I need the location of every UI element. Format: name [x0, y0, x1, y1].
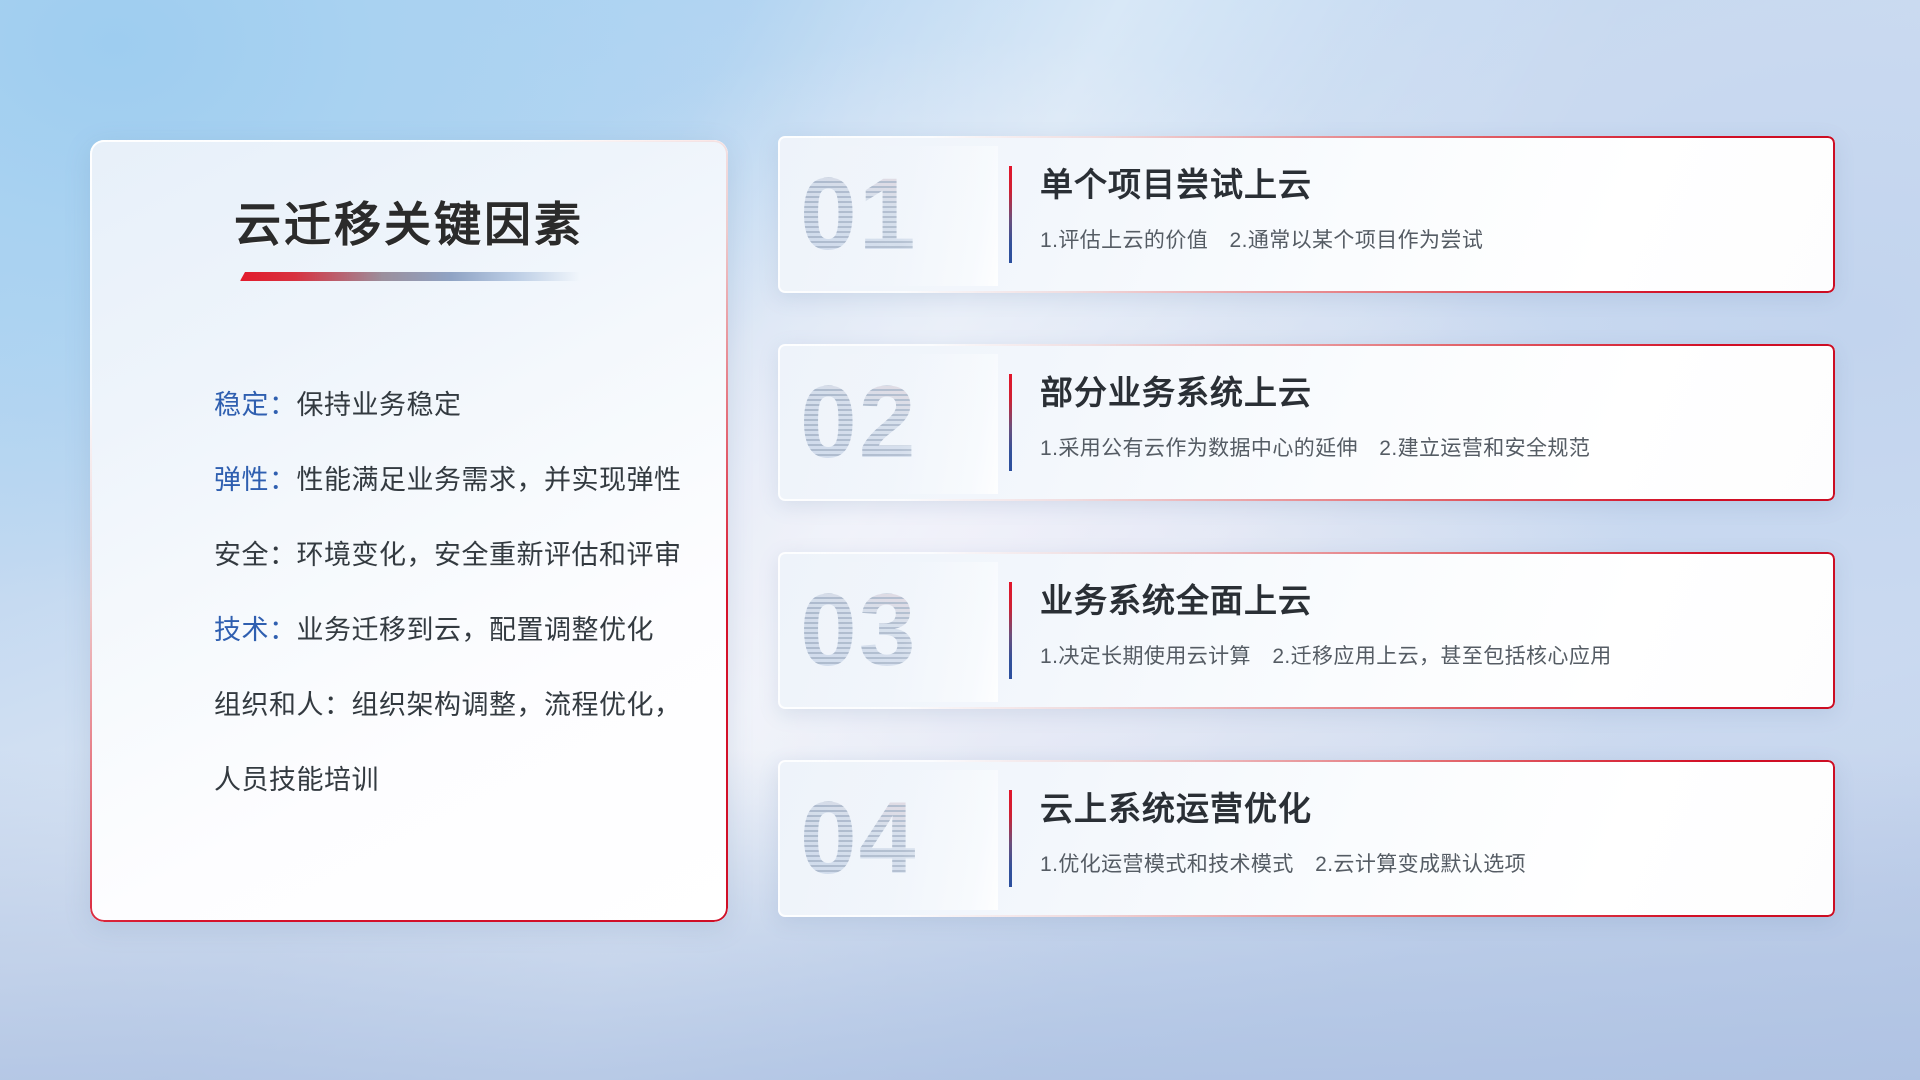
stage-title: 部分业务系统上云 [1040, 366, 1312, 414]
stage-number-decoration: 03 [800, 566, 917, 694]
key-factor-item: 弹性：性能满足业务需求，并实现弹性 [214, 443, 688, 518]
key-factor-item: 技术：业务迁移到云，配置调整优化 [214, 593, 688, 668]
page-title: 云迁移关键因素 [90, 186, 728, 255]
stage-number-decoration: 01 [800, 150, 917, 278]
key-factor-item: 安全：环境变化，安全重新评估和评审 [214, 518, 688, 593]
card-divider-line [1009, 374, 1012, 471]
stage-subtitle: 1.评估上云的价值 2.通常以某个项目作为尝试 [1040, 224, 1483, 254]
key-factor-text: 环境变化，安全重新评估和评审 [297, 540, 682, 570]
key-factor-text: 业务迁移到云，配置调整优化 [297, 615, 655, 645]
key-factor-text: 人员技能培训 [214, 765, 379, 795]
stage-number-decoration: 02 [800, 358, 917, 486]
stage-card[interactable]: 03业务系统全面上云1.决定长期使用云计算 2.迁移应用上云，甚至包括核心应用 [778, 552, 1835, 709]
key-factor-item: 稳定：保持业务稳定 [214, 368, 688, 443]
stage-title: 单个项目尝试上云 [1040, 158, 1312, 206]
key-factor-item: 组织和人：组织架构调整，流程优化， [214, 668, 688, 743]
stage-card[interactable]: 04云上系统运营优化1.优化运营模式和技术模式 2.云计算变成默认选项 [778, 760, 1835, 917]
key-factor-label: 技术： [214, 615, 297, 645]
key-factors-panel: 云迁移关键因素 稳定：保持业务稳定弹性：性能满足业务需求，并实现弹性安全：环境变… [90, 140, 728, 922]
key-factor-label: 安全： [214, 540, 297, 570]
key-factor-text: 组织架构调整，流程优化， [352, 690, 682, 720]
key-factor-label: 组织和人： [214, 690, 352, 720]
card-divider-line [1009, 166, 1012, 263]
stage-subtitle: 1.优化运营模式和技术模式 2.云计算变成默认选项 [1040, 848, 1526, 878]
stages-card-list: 01单个项目尝试上云1.评估上云的价值 2.通常以某个项目作为尝试02部分业务系… [778, 136, 1835, 968]
key-factor-label: 稳定： [214, 390, 297, 420]
key-factor-text: 保持业务稳定 [297, 390, 462, 420]
key-factor-item: 人员技能培训 [214, 743, 688, 818]
title-underline-rule [240, 272, 580, 281]
stage-number-decoration: 04 [800, 774, 917, 902]
stage-card[interactable]: 01单个项目尝试上云1.评估上云的价值 2.通常以某个项目作为尝试 [778, 136, 1835, 293]
card-divider-line [1009, 790, 1012, 887]
stage-title: 业务系统全面上云 [1040, 574, 1312, 622]
stage-subtitle: 1.采用公有云作为数据中心的延伸 2.建立运营和安全规范 [1040, 432, 1590, 462]
key-factor-text: 性能满足业务需求，并实现弹性 [297, 465, 682, 495]
stage-subtitle: 1.决定长期使用云计算 2.迁移应用上云，甚至包括核心应用 [1040, 640, 1612, 670]
stage-card[interactable]: 02部分业务系统上云1.采用公有云作为数据中心的延伸 2.建立运营和安全规范 [778, 344, 1835, 501]
stage-title: 云上系统运营优化 [1040, 782, 1312, 830]
key-factor-label: 弹性： [214, 465, 297, 495]
card-divider-line [1009, 582, 1012, 679]
key-factors-list: 稳定：保持业务稳定弹性：性能满足业务需求，并实现弹性安全：环境变化，安全重新评估… [214, 368, 688, 818]
